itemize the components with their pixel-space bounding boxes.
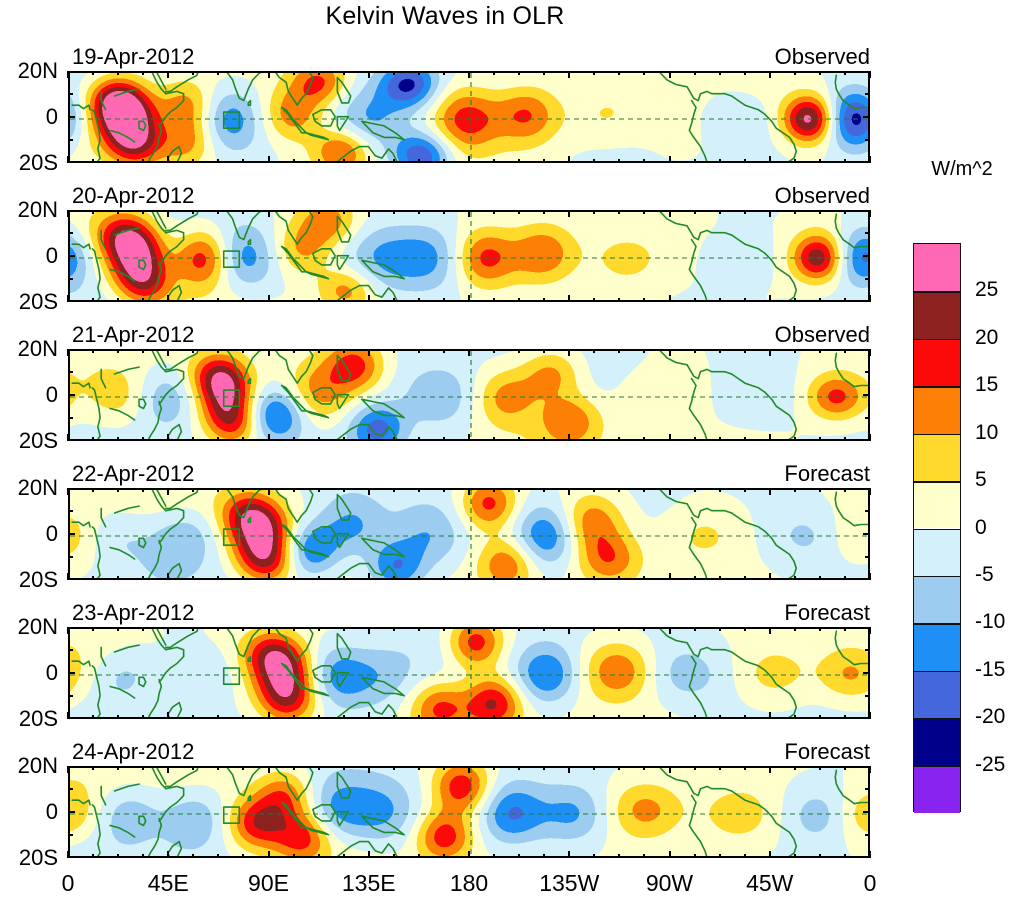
x-axis-minor-tick xyxy=(117,715,119,719)
x-axis-minor-tick xyxy=(518,159,520,163)
x-axis-tick xyxy=(769,295,771,302)
x-axis-minor-tick xyxy=(493,437,495,441)
x-axis-minor-tick xyxy=(744,576,746,580)
y-axis-minor-tick xyxy=(68,232,73,234)
x-axis-tick xyxy=(67,488,69,495)
y-axis-minor-tick xyxy=(68,649,73,651)
x-axis-tick xyxy=(669,851,671,858)
colorbar-tick-label: -10 xyxy=(975,610,1005,634)
x-axis-minor-tick xyxy=(343,71,345,75)
x-axis-minor-tick xyxy=(92,71,94,75)
x-axis-minor-tick xyxy=(719,437,721,441)
x-axis-minor-tick xyxy=(142,576,144,580)
colorbar-tick-label: 10 xyxy=(975,421,998,445)
x-axis-minor-tick xyxy=(593,210,595,214)
x-axis-minor-tick xyxy=(593,766,595,770)
x-axis-tick xyxy=(468,434,470,441)
x-axis-minor-tick xyxy=(117,349,119,353)
x-axis-minor-tick xyxy=(844,437,846,441)
y-axis-tick xyxy=(68,811,75,813)
x-axis-minor-tick xyxy=(744,210,746,214)
panel-23-apr-2012: 23-Apr-2012Forecast20N020S xyxy=(68,627,870,719)
x-axis-tick xyxy=(368,627,370,634)
panel-date-label: 24-Apr-2012 xyxy=(72,739,194,765)
x-axis-minor-tick xyxy=(393,854,395,858)
x-axis-minor-tick xyxy=(192,627,194,631)
x-axis-minor-tick xyxy=(744,298,746,302)
x-axis-minor-tick xyxy=(643,159,645,163)
y-axis-tick xyxy=(863,394,870,396)
x-axis-tick xyxy=(268,71,270,78)
x-axis-minor-tick xyxy=(192,576,194,580)
x-axis-minor-tick xyxy=(293,159,295,163)
colorbar-band-divider xyxy=(914,766,960,768)
x-axis-minor-tick xyxy=(217,854,219,858)
x-axis-minor-tick xyxy=(92,159,94,163)
x-axis-tick xyxy=(268,627,270,634)
x-axis-tick xyxy=(568,349,570,356)
x-axis-tick xyxy=(468,766,470,773)
x-axis-minor-tick xyxy=(92,576,94,580)
x-axis-minor-tick xyxy=(393,627,395,631)
x-axis-minor-tick xyxy=(794,349,796,353)
x-axis-minor-tick xyxy=(744,159,746,163)
x-axis-minor-tick xyxy=(142,627,144,631)
panel-20-apr-2012: 20-Apr-2012Observed20N020S xyxy=(68,210,870,302)
x-axis-minor-tick xyxy=(293,488,295,492)
x-axis-minor-tick xyxy=(318,349,320,353)
colorbar-tick-label: -5 xyxy=(975,563,994,587)
x-axis-tick xyxy=(368,573,370,580)
x-axis-minor-tick xyxy=(694,298,696,302)
x-axis-minor-tick xyxy=(643,437,645,441)
colorbar-band xyxy=(914,718,960,765)
x-axis-minor-tick xyxy=(518,298,520,302)
x-axis-label-90e: 90E xyxy=(248,870,289,897)
y-axis-label-20n: 20N xyxy=(18,197,58,223)
x-axis-minor-tick xyxy=(844,488,846,492)
x-axis-minor-tick xyxy=(92,766,94,770)
x-axis-minor-tick xyxy=(293,437,295,441)
x-axis-minor-tick xyxy=(318,627,320,631)
x-axis-minor-tick xyxy=(618,71,620,75)
x-axis-minor-tick xyxy=(92,210,94,214)
y-axis-tick xyxy=(863,255,870,257)
x-axis-minor-tick xyxy=(318,159,320,163)
x-axis-minor-tick xyxy=(719,854,721,858)
x-axis-tick xyxy=(268,349,270,356)
colorbar-band-divider xyxy=(914,623,960,625)
x-axis-minor-tick xyxy=(819,349,821,353)
x-axis-minor-tick xyxy=(744,854,746,858)
y-axis-minor-tick xyxy=(865,278,870,280)
x-axis-minor-tick xyxy=(117,627,119,631)
x-axis-minor-tick xyxy=(318,298,320,302)
x-axis-minor-tick xyxy=(418,854,420,858)
x-axis-tick xyxy=(568,434,570,441)
x-axis-minor-tick xyxy=(794,766,796,770)
x-axis-minor-tick xyxy=(142,349,144,353)
x-axis-tick xyxy=(368,488,370,495)
x-axis-tick xyxy=(669,210,671,217)
x-axis-minor-tick xyxy=(819,210,821,214)
x-axis-minor-tick xyxy=(794,854,796,858)
x-axis-tick xyxy=(67,573,69,580)
colorbar-band-divider xyxy=(914,529,960,531)
x-axis-tick xyxy=(669,71,671,78)
x-axis-minor-tick xyxy=(418,210,420,214)
x-axis-minor-tick xyxy=(318,488,320,492)
y-axis-minor-tick xyxy=(865,788,870,790)
x-axis-minor-tick xyxy=(819,298,821,302)
x-axis-minor-tick xyxy=(217,766,219,770)
x-axis-minor-tick xyxy=(543,766,545,770)
x-axis-minor-tick xyxy=(192,437,194,441)
x-axis-minor-tick xyxy=(393,71,395,75)
x-axis-tick xyxy=(669,488,671,495)
x-axis-tick xyxy=(769,627,771,634)
colorbar-tick-label: -25 xyxy=(975,753,1005,777)
y-axis-label-0: 0 xyxy=(46,243,58,269)
x-axis-minor-tick xyxy=(217,437,219,441)
panel-kind-label: Forecast xyxy=(784,600,870,626)
x-axis-minor-tick xyxy=(293,715,295,719)
y-axis-minor-tick xyxy=(68,93,73,95)
panel-24-apr-2012: 24-Apr-2012Forecast20N020S xyxy=(68,766,870,858)
colorbar-band xyxy=(914,576,960,623)
y-axis-label-20n: 20N xyxy=(18,58,58,84)
x-axis-minor-tick xyxy=(217,349,219,353)
x-axis-tick xyxy=(167,71,169,78)
x-axis-minor-tick xyxy=(643,766,645,770)
x-axis-tick xyxy=(67,156,69,163)
x-axis-tick xyxy=(268,766,270,773)
x-axis-minor-tick xyxy=(418,349,420,353)
x-axis-minor-tick xyxy=(293,298,295,302)
x-axis-tick xyxy=(568,766,570,773)
y-axis-tick xyxy=(68,255,75,257)
panel-date-label: 22-Apr-2012 xyxy=(72,461,194,487)
y-axis-tick xyxy=(68,394,75,396)
x-axis-minor-tick xyxy=(518,488,520,492)
y-axis-tick xyxy=(68,116,75,118)
x-axis-minor-tick xyxy=(117,576,119,580)
x-axis-minor-tick xyxy=(493,766,495,770)
x-axis-minor-tick xyxy=(192,210,194,214)
x-axis-tick xyxy=(568,210,570,217)
x-axis-tick xyxy=(468,627,470,634)
x-axis-minor-tick xyxy=(618,298,620,302)
x-axis-minor-tick xyxy=(393,766,395,770)
x-axis-minor-tick xyxy=(593,437,595,441)
x-axis-minor-tick xyxy=(343,627,345,631)
x-axis-minor-tick xyxy=(242,298,244,302)
y-axis-label-0: 0 xyxy=(46,660,58,686)
x-axis-minor-tick xyxy=(794,488,796,492)
x-axis-tick xyxy=(268,295,270,302)
y-axis-tick xyxy=(68,672,75,674)
x-axis-minor-tick xyxy=(643,715,645,719)
panel-22-apr-2012: 22-Apr-2012Forecast20N020S xyxy=(68,488,870,580)
x-axis-tick xyxy=(769,488,771,495)
x-axis-minor-tick xyxy=(744,627,746,631)
x-axis-minor-tick xyxy=(493,210,495,214)
x-axis-minor-tick xyxy=(242,627,244,631)
x-axis-minor-tick xyxy=(593,71,595,75)
x-axis-minor-tick xyxy=(443,715,445,719)
x-axis-tick xyxy=(669,295,671,302)
x-axis-minor-tick xyxy=(192,71,194,75)
x-axis-minor-tick xyxy=(443,71,445,75)
x-axis-tick xyxy=(167,851,169,858)
x-axis-minor-tick xyxy=(343,715,345,719)
x-axis-tick xyxy=(167,627,169,634)
x-axis-minor-tick xyxy=(242,854,244,858)
x-axis-minor-tick xyxy=(744,437,746,441)
x-axis-minor-tick xyxy=(242,437,244,441)
x-axis-minor-tick xyxy=(794,298,796,302)
y-axis-tick xyxy=(863,533,870,535)
x-axis-tick xyxy=(67,349,69,356)
x-axis-minor-tick xyxy=(142,488,144,492)
x-axis-minor-tick xyxy=(518,71,520,75)
panel-map-area xyxy=(68,627,870,719)
colorbar-tick-label: 0 xyxy=(975,516,987,540)
x-axis-minor-tick xyxy=(142,298,144,302)
x-axis-minor-tick xyxy=(518,576,520,580)
x-axis-minor-tick xyxy=(518,854,520,858)
y-axis-label-20n: 20N xyxy=(18,753,58,779)
olr-anomaly-field xyxy=(70,351,870,441)
colorbar-tick-label: 20 xyxy=(975,326,998,350)
x-axis-tick xyxy=(568,156,570,163)
x-axis-minor-tick xyxy=(318,854,320,858)
x-axis-minor-tick xyxy=(493,627,495,631)
x-axis-minor-tick xyxy=(192,715,194,719)
x-axis-tick xyxy=(268,573,270,580)
x-axis-tick xyxy=(669,349,671,356)
x-axis-minor-tick xyxy=(92,437,94,441)
x-axis-minor-tick xyxy=(744,488,746,492)
x-axis-minor-tick xyxy=(844,349,846,353)
colorbar-band xyxy=(914,766,960,813)
x-axis-minor-tick xyxy=(618,854,620,858)
x-axis-minor-tick xyxy=(643,210,645,214)
x-axis-minor-tick xyxy=(794,627,796,631)
x-axis-minor-tick xyxy=(418,488,420,492)
colorbar-tick-label: -20 xyxy=(975,705,1005,729)
x-axis-minor-tick xyxy=(719,766,721,770)
x-axis-minor-tick xyxy=(217,576,219,580)
x-axis-tick xyxy=(869,712,871,719)
x-axis-minor-tick xyxy=(493,715,495,719)
x-axis-minor-tick xyxy=(117,210,119,214)
panel-kind-label: Forecast xyxy=(784,739,870,765)
x-axis-tick xyxy=(167,295,169,302)
x-axis-tick xyxy=(67,71,69,78)
colorbar-band xyxy=(914,244,960,291)
colorbar-tick-label: 15 xyxy=(975,373,998,397)
x-axis-minor-tick xyxy=(192,766,194,770)
x-axis-minor-tick xyxy=(142,159,144,163)
x-axis-minor-tick xyxy=(543,71,545,75)
y-axis-minor-tick xyxy=(865,139,870,141)
x-axis-minor-tick xyxy=(393,576,395,580)
x-axis-minor-tick xyxy=(618,437,620,441)
colorbar-band xyxy=(914,529,960,576)
x-axis-minor-tick xyxy=(343,298,345,302)
panel-map-area xyxy=(68,488,870,580)
x-axis-minor-tick xyxy=(593,298,595,302)
x-axis-minor-tick xyxy=(593,159,595,163)
x-axis-minor-tick xyxy=(794,576,796,580)
x-axis-minor-tick xyxy=(819,854,821,858)
x-axis-minor-tick xyxy=(418,576,420,580)
x-axis-minor-tick xyxy=(92,349,94,353)
x-axis-minor-tick xyxy=(293,627,295,631)
x-axis-minor-tick xyxy=(493,349,495,353)
panel-kind-label: Forecast xyxy=(784,461,870,487)
x-axis-label-90w: 90W xyxy=(646,870,693,897)
x-axis-tick xyxy=(368,295,370,302)
y-axis-minor-tick xyxy=(68,278,73,280)
olr-anomaly-field xyxy=(70,73,870,163)
x-axis-tick xyxy=(669,766,671,773)
x-axis-minor-tick xyxy=(418,437,420,441)
x-axis-minor-tick xyxy=(719,71,721,75)
x-axis-minor-tick xyxy=(643,349,645,353)
x-axis-minor-tick xyxy=(443,627,445,631)
x-axis-minor-tick xyxy=(593,488,595,492)
x-axis-tick xyxy=(568,851,570,858)
x-axis-tick xyxy=(468,488,470,495)
x-axis-minor-tick xyxy=(694,71,696,75)
x-axis-minor-tick xyxy=(117,298,119,302)
x-axis-minor-tick xyxy=(117,159,119,163)
x-axis-minor-tick xyxy=(543,627,545,631)
x-axis-minor-tick xyxy=(694,210,696,214)
x-axis-minor-tick xyxy=(719,488,721,492)
y-axis-minor-tick xyxy=(68,834,73,836)
panel-date-label: 20-Apr-2012 xyxy=(72,183,194,209)
x-axis-tick xyxy=(167,766,169,773)
x-axis-minor-tick xyxy=(318,715,320,719)
x-axis-minor-tick xyxy=(242,576,244,580)
x-axis-minor-tick xyxy=(242,349,244,353)
x-axis-tick xyxy=(869,851,871,858)
x-axis-minor-tick xyxy=(844,210,846,214)
panel-map-area xyxy=(68,349,870,441)
x-axis-minor-tick xyxy=(694,715,696,719)
y-axis-minor-tick xyxy=(865,510,870,512)
x-axis-minor-tick xyxy=(643,627,645,631)
x-axis-tick xyxy=(167,434,169,441)
x-axis-minor-tick xyxy=(694,159,696,163)
x-axis-minor-tick xyxy=(694,349,696,353)
x-axis-minor-tick xyxy=(744,71,746,75)
colorbar-tick-label: 5 xyxy=(975,468,987,492)
panel-19-apr-2012: 19-Apr-2012Observed20N020S xyxy=(68,71,870,163)
x-axis-minor-tick xyxy=(844,627,846,631)
x-axis-tick xyxy=(268,210,270,217)
panel-kind-label: Observed xyxy=(775,44,870,70)
x-axis-minor-tick xyxy=(593,715,595,719)
x-axis-minor-tick xyxy=(418,71,420,75)
x-axis-minor-tick xyxy=(819,715,821,719)
x-axis-minor-tick xyxy=(593,627,595,631)
x-axis-minor-tick xyxy=(493,298,495,302)
x-axis-tick xyxy=(67,434,69,441)
colorbar-units-label: W/m^2 xyxy=(931,158,993,181)
x-axis-minor-tick xyxy=(418,627,420,631)
x-axis-minor-tick xyxy=(719,627,721,631)
x-axis-tick xyxy=(869,295,871,302)
x-axis-tick xyxy=(669,573,671,580)
x-axis-minor-tick xyxy=(343,159,345,163)
x-axis-minor-tick xyxy=(593,854,595,858)
x-axis-minor-tick xyxy=(343,854,345,858)
panel-kind-label: Observed xyxy=(775,183,870,209)
panel-map-area xyxy=(68,210,870,302)
x-axis-tick xyxy=(167,210,169,217)
x-axis-minor-tick xyxy=(819,766,821,770)
colorbar-band xyxy=(914,623,960,670)
x-axis-minor-tick xyxy=(142,71,144,75)
x-axis-tick xyxy=(869,488,871,495)
x-axis-minor-tick xyxy=(719,349,721,353)
x-axis-minor-tick xyxy=(92,627,94,631)
x-axis-minor-tick xyxy=(242,210,244,214)
x-axis-minor-tick xyxy=(518,437,520,441)
x-axis-minor-tick xyxy=(142,210,144,214)
x-axis-minor-tick xyxy=(142,854,144,858)
y-axis-label-0: 0 xyxy=(46,104,58,130)
x-axis-tick xyxy=(368,851,370,858)
colorbar-band xyxy=(914,291,960,338)
x-axis-minor-tick xyxy=(293,766,295,770)
colorbar-band xyxy=(914,671,960,718)
x-axis-minor-tick xyxy=(318,437,320,441)
x-axis-tick xyxy=(368,210,370,217)
x-axis-tick xyxy=(268,434,270,441)
x-axis-tick xyxy=(568,712,570,719)
x-axis-minor-tick xyxy=(192,159,194,163)
y-axis-minor-tick xyxy=(68,139,73,141)
x-axis-tick xyxy=(468,712,470,719)
x-axis-tick xyxy=(669,434,671,441)
x-axis-label-45e: 45E xyxy=(148,870,189,897)
colorbar-band-divider xyxy=(914,386,960,388)
y-axis-minor-tick xyxy=(865,371,870,373)
x-axis-tick xyxy=(568,573,570,580)
y-axis-label-0: 0 xyxy=(46,521,58,547)
x-axis-minor-tick xyxy=(518,715,520,719)
x-axis-minor-tick xyxy=(117,854,119,858)
x-axis-minor-tick xyxy=(418,298,420,302)
x-axis-tick xyxy=(869,627,871,634)
x-axis-minor-tick xyxy=(443,159,445,163)
y-axis-label-20s: 20S xyxy=(19,150,58,176)
y-axis-minor-tick xyxy=(68,417,73,419)
x-axis-minor-tick xyxy=(819,576,821,580)
x-axis-minor-tick xyxy=(794,437,796,441)
x-axis-minor-tick xyxy=(217,298,219,302)
y-axis-minor-tick xyxy=(865,417,870,419)
x-axis-minor-tick xyxy=(719,715,721,719)
y-axis-label-20s: 20S xyxy=(19,845,58,871)
olr-anomaly-field xyxy=(70,490,870,580)
x-axis-tick xyxy=(368,434,370,441)
